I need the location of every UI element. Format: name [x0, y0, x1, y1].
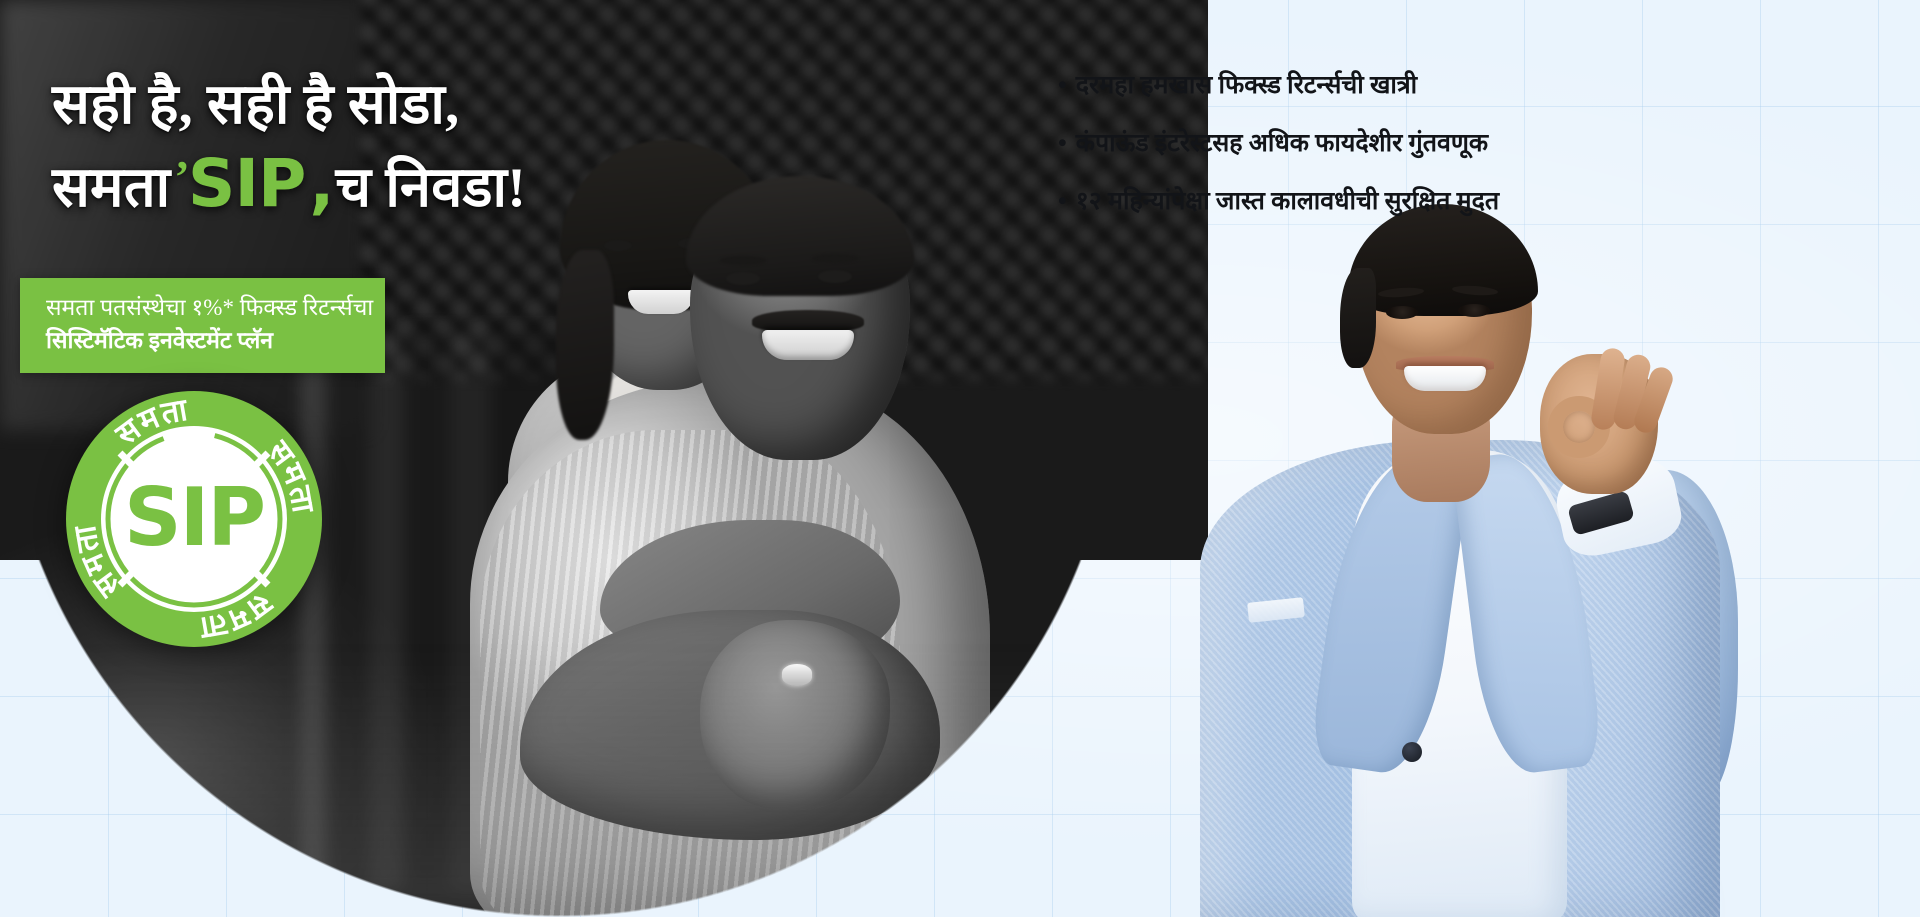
headline-brand-prefix: समता [52, 157, 170, 219]
benefit-text: दरमहा हमखास फिक्स्ड रिटर्न्सची खात्री [1076, 72, 1417, 101]
samta-sip-stamp-badge: समता समता समता समता SIP [65, 390, 323, 648]
floor-light-glow [0, 657, 1208, 917]
child-hair-side [556, 250, 614, 440]
offer-line-2: सिस्टिमॅटिक इनवेस्टमेंट प्लॅन [46, 324, 357, 357]
sip-wordmark: SIP [186, 145, 307, 222]
stamp-sip-wordmark: SIP [124, 471, 264, 564]
benefits-list: • दरमहा हमखास फिक्स्ड रिटर्न्सची खात्री … [1058, 72, 1499, 245]
father-eyebrow-left [720, 256, 766, 265]
list-item: • कंपाऊंड इंटरेस्टसह अधिक फायदेशीर गुंतव… [1058, 130, 1499, 159]
father-eye-left [726, 272, 760, 285]
spokesperson-jacket-button [1402, 742, 1422, 762]
child-smile [628, 290, 694, 314]
page-title: सही है, सही है सोडा, समता’SIP,च निवडा! [52, 70, 812, 226]
spokesperson-eye-right [1458, 304, 1490, 317]
offer-highlight-band: समता पतसंस्थेचा १%* फिक्स्ड रिटर्न्सचा स… [20, 278, 385, 373]
father-eye-right [818, 270, 852, 283]
father-eyebrow-right [812, 254, 858, 263]
bullet-dot-icon: • [1058, 130, 1067, 158]
bullet-dot-icon: • [1058, 188, 1067, 216]
sip-comma: , [307, 145, 335, 222]
list-item: • दरमहा हमखास फिक्स्ड रिटर्न्सची खात्री [1058, 72, 1499, 101]
spokesperson-hair-side [1340, 268, 1376, 368]
list-item: • १२ महिन्यांपेक्षा जास्त कालावधीची सुरक… [1058, 188, 1499, 217]
benefit-text: १२ महिन्यांपेक्षा जास्त कालावधीची सुरक्ष… [1076, 188, 1499, 217]
offer-line-1: समता पतसंस्थेचा १%* फिक्स्ड रिटर्न्सचा [46, 291, 357, 324]
apostrophe-mark: ’ [174, 151, 190, 202]
bullet-dot-icon: • [1058, 72, 1067, 100]
father-smile [762, 330, 854, 360]
sip-promo-banner: • दरमहा हमखास फिक्स्ड रिटर्न्सची खात्री … [0, 0, 1920, 917]
child-eye-left [604, 240, 632, 251]
benefit-text: कंपाऊंड इंटरेस्टसह अधिक फायदेशीर गुंतवणू… [1076, 130, 1488, 159]
headline-line-1: सही है, सही है सोडा, [52, 70, 812, 142]
spokesperson-smile [1404, 366, 1486, 391]
spokesperson-eye-left [1386, 306, 1418, 319]
headline-suffix: च निवडा! [335, 157, 526, 219]
headline-line-2: समता’SIP,च निवडा! [52, 142, 812, 226]
father-moustache [752, 310, 864, 332]
